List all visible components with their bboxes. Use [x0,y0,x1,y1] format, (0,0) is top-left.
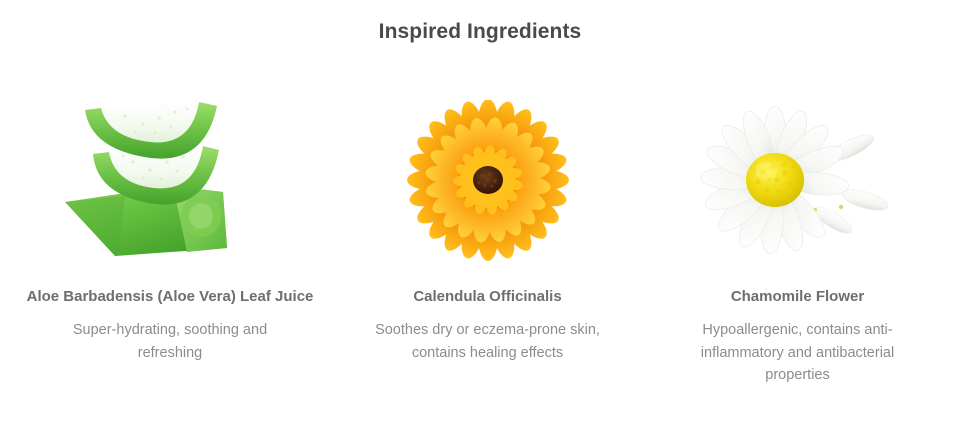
ingredients-row: Aloe Barbadensis (Aloe Vera) Leaf Juice … [0,100,960,387]
ingredient-description: Hypoallergenic, contains anti-inflammato… [673,319,923,386]
ingredient-title: Calendula Officinalis [348,287,628,307]
chamomile-flower-image [683,100,913,265]
ingredient-title: Aloe Barbadensis (Aloe Vera) Leaf Juice [25,287,315,307]
aloe-vera-slices-image [55,100,285,265]
inspired-ingredients-section: Inspired Ingredients [0,0,960,435]
ingredient-description: Super-hydrating, soothing and refreshing [45,319,295,364]
ingredient-card-calendula: Calendula Officinalis Soothes dry or ecz… [340,100,635,364]
ingredient-description: Soothes dry or eczema-prone skin, contai… [350,319,625,364]
ingredient-card-aloe: Aloe Barbadensis (Aloe Vera) Leaf Juice … [0,100,340,364]
section-title: Inspired Ingredients [0,20,960,44]
ingredient-title: Chamomile Flower [658,287,938,307]
calendula-flower-image [373,100,603,265]
ingredient-card-chamomile: Chamomile Flower Hypoallergenic, contain… [635,100,960,387]
